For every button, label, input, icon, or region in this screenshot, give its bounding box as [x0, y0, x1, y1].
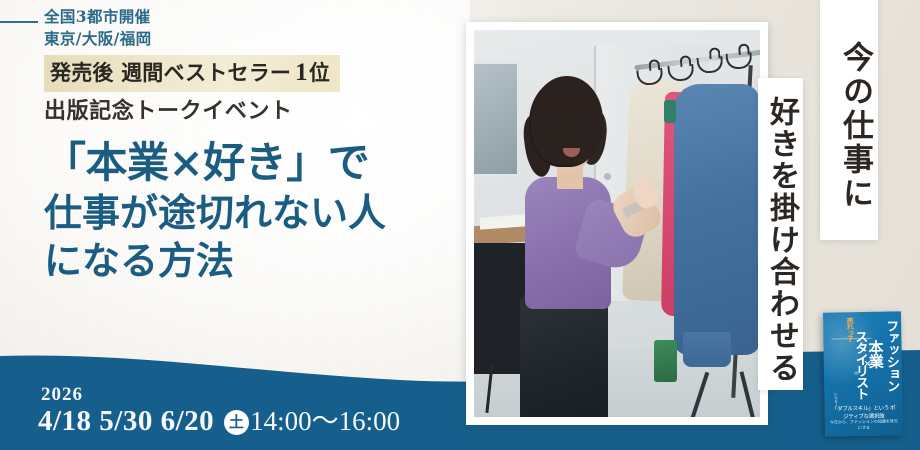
eyebrow-text: 全国3都市開催 東京/大阪/福岡: [44, 6, 459, 50]
bestseller-rank: 1: [291, 59, 309, 86]
book-cross-symbol: ×: [864, 356, 872, 372]
photo-garment-teal: [664, 100, 675, 123]
photo-garment-blue: [674, 84, 760, 355]
headline-line-2: 仕事が途切れない人: [44, 189, 459, 237]
photo-garment-green: [654, 340, 677, 383]
book-tagline: 「ダブルスキル」という ポジティブな選択肢: [831, 403, 897, 420]
vertical-panel-top: 今の仕事に: [820, 0, 878, 240]
event-time: 14:00〜16:00: [250, 407, 400, 437]
vertical-panel-bottom: 好きを掛け合わせる: [758, 78, 803, 390]
book-equals-symbol: =: [854, 368, 859, 378]
photo-subject-eye: [577, 127, 588, 133]
event-year: 2026: [38, 385, 400, 405]
bestseller-badge: 発売後 週間ベストセラー1位: [44, 55, 340, 92]
page-title: 「本業×好き」で 仕事が途切れない人 になる方法: [44, 136, 459, 286]
photo-subject-skirt: [520, 297, 609, 417]
book-cover: ファッション 本業 スタイリスト × = 売れっ子 になる！ 今日から、ファッシ…: [823, 311, 903, 436]
book-badge: 売れっ子: [845, 317, 855, 341]
photo-subject-eye: [556, 127, 567, 133]
left-text-column: 全国3都市開催 東京/大阪/福岡 発売後 週間ベストセラー1位 出版記念トークイ…: [44, 6, 459, 286]
event-photo: [474, 30, 760, 417]
headline-line-1: 「本業×好き」で: [44, 136, 459, 189]
photo-garment-blue-cuff: [683, 332, 732, 367]
event-subtitle: 出版記念トークイベント: [44, 98, 459, 124]
event-banner: 全国3都市開催 東京/大阪/福岡 発売後 週間ベストセラー1位 出版記念トークイ…: [0, 0, 920, 450]
headline-line-3: になる方法: [44, 237, 459, 285]
day-of-week-badge: 土: [224, 410, 249, 435]
event-date-block: 2026 4/18 5/30 6/20 土 14:00〜16:00: [38, 385, 400, 438]
bestseller-suffix: 位: [309, 60, 330, 85]
eyebrow-line-2: 東京/大阪/福岡: [44, 28, 459, 50]
photo-window: [474, 61, 520, 177]
photo-subject-bangs: [543, 92, 597, 119]
event-dates-line: 4/18 5/30 6/20 土 14:00〜16:00: [38, 406, 400, 438]
event-photo-card: [466, 22, 768, 425]
decorative-rule: [0, 21, 38, 23]
bestseller-prefix: 発売後 週間ベストセラー: [50, 60, 291, 85]
eyebrow-line-1: 全国3都市開催: [44, 6, 459, 28]
event-dates: 4/18 5/30 6/20: [38, 406, 214, 438]
